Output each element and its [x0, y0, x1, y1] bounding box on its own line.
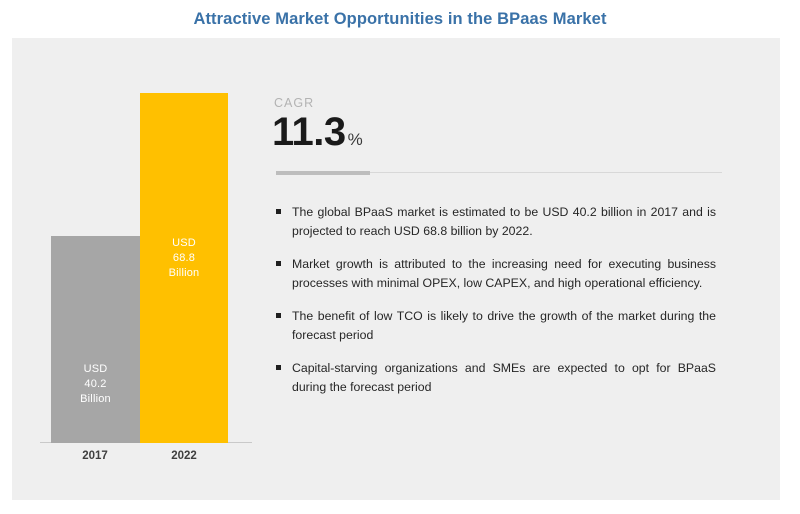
bullet-text: The benefit of low TCO is likely to driv…: [292, 307, 716, 345]
bar-2017: USD 40.2 Billion: [51, 236, 140, 440]
bar-2022-unit: Billion: [169, 266, 200, 281]
slide-root: Attractive Market Opportunities in the B…: [0, 0, 800, 514]
bar-2017-unit: Billion: [80, 392, 111, 407]
x-axis-segment-2017: [51, 440, 140, 443]
bar-2022: USD 68.8 Billion: [140, 93, 228, 440]
square-bullet-icon: [276, 209, 281, 214]
x-axis-segment-2022: [140, 440, 228, 443]
bullet-text: Market growth is attributed to the incre…: [292, 255, 716, 293]
square-bullet-icon: [276, 313, 281, 318]
cagr-label: CAGR: [274, 96, 314, 110]
divider-strong-segment: [276, 171, 370, 175]
x-tick-2017: 2017: [50, 450, 140, 462]
square-bullet-icon: [276, 365, 281, 370]
bar-label-2017: USD 40.2 Billion: [80, 362, 111, 407]
list-item: The benefit of low TCO is likely to driv…: [270, 307, 716, 345]
bullet-text: Capital-starving organizations and SMEs …: [292, 359, 716, 397]
title-band: Attractive Market Opportunities in the B…: [0, 0, 800, 38]
section-divider: [276, 171, 722, 175]
cagr-number: 11.3: [272, 112, 346, 152]
bar-2017-value: 40.2: [80, 377, 111, 392]
square-bullet-icon: [276, 261, 281, 266]
bullet-text: The global BPaaS market is estimated to …: [292, 203, 716, 241]
page-title: Attractive Market Opportunities in the B…: [193, 10, 606, 29]
info-column: CAGR 11.3 % The global BPaaS market is e…: [270, 38, 780, 500]
list-item: The global BPaaS market is estimated to …: [270, 203, 716, 241]
cagr-value: 11.3 %: [272, 112, 363, 152]
content-panel: USD 40.2 Billion USD 68.8 Billion 2017 2…: [12, 38, 780, 500]
bullet-list: The global BPaaS market is estimated to …: [270, 203, 716, 397]
cagr-percent-sign: %: [348, 130, 363, 150]
bar-2022-currency: USD: [169, 236, 200, 251]
x-tick-2022: 2022: [139, 450, 229, 462]
divider-thin-segment: [370, 172, 722, 173]
bar-2017-currency: USD: [80, 362, 111, 377]
bar-label-2022: USD 68.8 Billion: [169, 236, 200, 281]
bar-chart: USD 40.2 Billion USD 68.8 Billion 2017 2…: [12, 38, 274, 500]
list-item: Market growth is attributed to the incre…: [270, 255, 716, 293]
bar-2022-value: 68.8: [169, 251, 200, 266]
list-item: Capital-starving organizations and SMEs …: [270, 359, 716, 397]
